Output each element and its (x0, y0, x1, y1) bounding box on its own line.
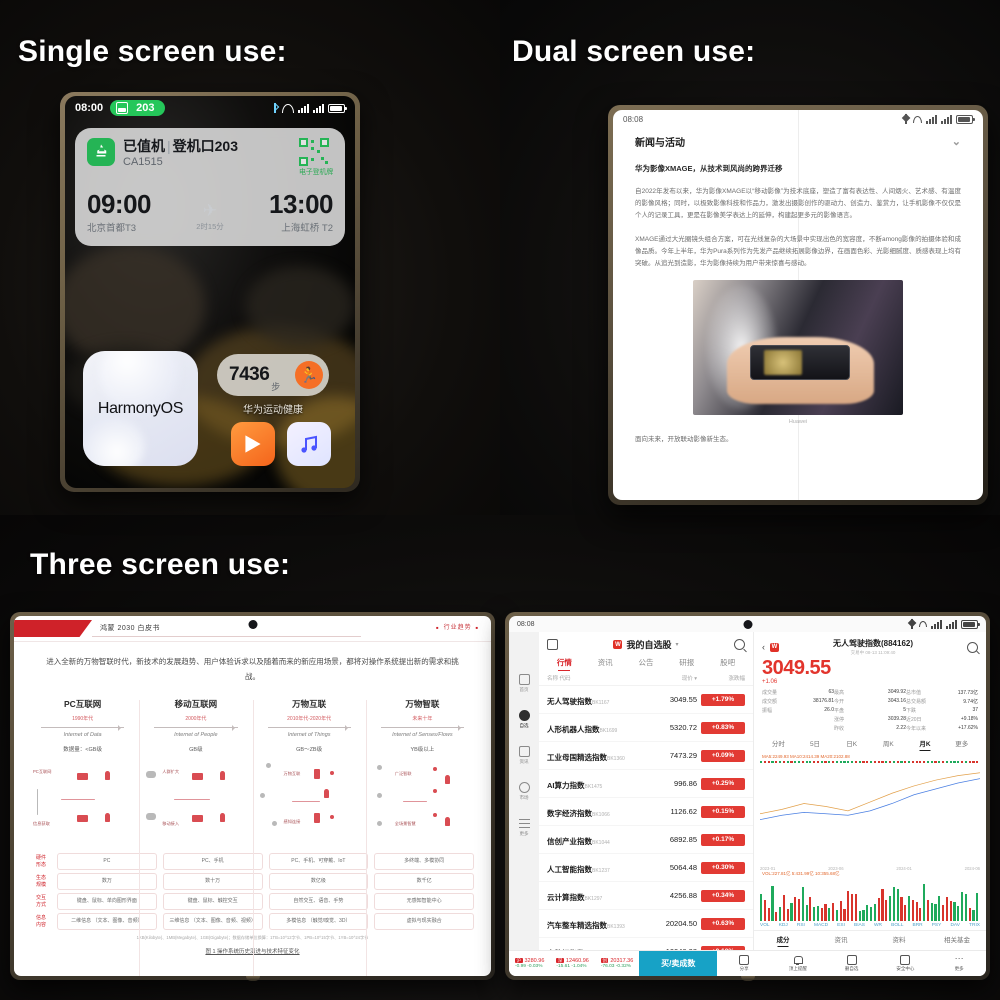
volume-bar (972, 910, 974, 921)
kline-tab[interactable]: 更多 (943, 738, 980, 751)
stock-name-cell: 信创产业指数BK1044 (547, 831, 645, 849)
indicator-tab[interactable]: PSY (932, 923, 942, 928)
watchlist-icon (519, 710, 530, 721)
dual-screen-heading: Dual screen use: (512, 35, 755, 69)
signal-icon (931, 620, 942, 629)
indicator-tab[interactable]: BOLL (891, 923, 903, 928)
volume-bar (828, 908, 830, 921)
boarding-pass-header: 已值机|登机口203 CA1515 电子登机牌 (87, 138, 333, 177)
era-period: 2000年代 (144, 715, 247, 722)
gate-capsule[interactable]: 203 (110, 100, 164, 116)
row-label: 硬件形态 (28, 853, 54, 870)
boarding-pass-icon (116, 102, 128, 114)
col-name: 名称 代码 (547, 674, 645, 682)
kline-tab[interactable]: 周K (870, 738, 907, 751)
table-row[interactable]: 大数据指数BK113110046.08+0.10% (539, 938, 753, 950)
stock-price: 20204.50 (645, 919, 697, 928)
stat-label: 今开 (834, 698, 844, 705)
phone-screen: 08:00 203 (65, 96, 355, 488)
table-cell: 多模信息 （触觉/嗅觉、3D） (269, 913, 369, 930)
kline-tab[interactable]: 5日 (797, 738, 834, 751)
action-remove[interactable]: 删自选 (825, 951, 879, 976)
stock-name-cell: 大数据指数BK1131 (547, 943, 645, 951)
action-share[interactable]: 分享 (717, 951, 771, 976)
arrival-block: 13:00 上海虹桥 T2 (269, 191, 333, 234)
table-cell: PC (57, 853, 157, 870)
stat-value: 137.73亿 (958, 689, 978, 696)
volume-bar (760, 894, 762, 921)
steps-count: 7436 (229, 364, 269, 386)
stock-change: +0.34% (701, 890, 745, 902)
row-label: 交互方式 (28, 893, 54, 910)
stock-name-cell: 无人驾驶指数BK1167 (547, 691, 645, 709)
table-cell: 二维信息 （文本、图像、音频） (57, 913, 157, 930)
era-arrow-icon (154, 724, 237, 731)
signal-icon (313, 104, 324, 113)
airplane-icon: ✈ (151, 202, 269, 219)
stock-code: BK1167 (592, 700, 609, 706)
front-camera-icon (743, 620, 752, 629)
era-diagram: 万物互联 感知连接 (258, 759, 361, 851)
volume-bar (859, 911, 861, 921)
volume-bar (938, 896, 940, 921)
volume-bar (806, 905, 808, 921)
edit-icon[interactable] (547, 639, 558, 650)
indicator-tab[interactable]: BIAS (854, 923, 865, 928)
table-row[interactable]: 无人驾驶指数BK11673049.55+1.79% (539, 686, 753, 714)
status-time: 08:08 (623, 115, 643, 124)
volume-bar (790, 903, 792, 921)
action-more[interactable]: ··· 更多 (932, 951, 986, 976)
qr-label: 电子登机牌 (299, 167, 333, 177)
volume-bar (900, 897, 902, 921)
detail-stats: 成交量63 成交额38176.81 振幅26.0 最高3049.92 今开304… (754, 685, 986, 733)
header-rule (92, 636, 361, 637)
era-volume: GB级 (144, 745, 247, 753)
volume-bar (934, 904, 936, 921)
volume-bar (768, 908, 770, 921)
detail-tab[interactable]: 资讯 (812, 934, 870, 947)
stock-name-cell: 人工智能指数BK1237 (547, 859, 645, 877)
steps-widget[interactable]: 7436 步 🏃 (217, 354, 329, 396)
table-row[interactable]: 数字经济指数BK10661126.62+0.15% (539, 798, 753, 826)
bottom-toolbar: 沪3280.96 -0.99 -0.03% 深12460.96 -15.61 -… (509, 950, 986, 976)
buy-sell-button[interactable]: 买/卖成数 (639, 951, 717, 976)
stock-change: +0.83% (701, 722, 745, 734)
volume-bar (764, 900, 766, 921)
departure-time: 09:00 (87, 191, 151, 217)
index-ticker[interactable]: 创20317.36 -76.03 -0.32% (595, 951, 639, 976)
single-screen-heading: Single screen use: (18, 35, 287, 69)
era-title: 万物互联 (258, 698, 361, 710)
volume-bar (961, 892, 963, 921)
era-english: Internet of People (144, 732, 247, 738)
stats-col-left: 成交量63 成交额38176.81 振幅26.0 (762, 688, 834, 733)
tab-news[interactable]: 资讯 (586, 657, 625, 671)
indicator-tab[interactable]: VOL (760, 923, 770, 928)
index-points: -15.61 (556, 964, 570, 969)
volume-bar (874, 904, 876, 921)
volume-bar (809, 897, 811, 921)
table-cell: 无感知智能中心 (374, 893, 474, 910)
tab-forum[interactable]: 股吧 (708, 657, 747, 671)
rail-label: 市场 (520, 795, 529, 801)
stat-label: 平盘 (834, 707, 844, 714)
stat-label: 成交额 (762, 698, 777, 705)
stock-change: +0.15% (701, 806, 745, 818)
stock-change: +0.30% (701, 862, 745, 874)
volume-bar (783, 895, 785, 921)
back-chevron-icon[interactable]: ‹ (762, 642, 765, 652)
stock-code: BK1393 (607, 924, 625, 930)
status-time: 08:08 (517, 621, 535, 628)
volume-bar (916, 902, 918, 921)
era-volume: 数据量：<GB级 (31, 745, 134, 753)
era-english: Internet of Things (258, 732, 361, 738)
stock-list: 无人驾驶指数BK11673049.55+1.79%人形机器人指数BK169953… (539, 686, 753, 950)
index-ticker[interactable]: 深12460.96 -15.61 -1.04% (550, 951, 594, 976)
app-badge-icon: W (770, 643, 779, 652)
action-label: 顶上提醒 (789, 966, 807, 972)
harmonyos-widget[interactable]: HarmonyOS (83, 351, 198, 466)
stock-name-cell: 工业母国精选指数BK1360 (547, 747, 645, 765)
status-icons (903, 114, 973, 124)
volume-bar (912, 900, 914, 921)
status-time: 08:00 (75, 102, 103, 114)
battery-icon (961, 620, 978, 629)
era-column: PC互联网 1990年代 Internet of Data 数据量：<GB级 P… (26, 698, 139, 851)
detail-bottom-tabs: 成分资讯资料相关基金 (754, 930, 986, 950)
boarding-pass-times: 09:00 北京首都T3 ✈ 2时15分 13:00 上海虹桥 T2 (87, 191, 333, 234)
era-title: PC互联网 (31, 698, 134, 710)
stat-value: +9.18% (961, 716, 978, 723)
action-alert[interactable]: 顶上提醒 (771, 951, 825, 976)
stock-code: BK1044 (592, 840, 610, 846)
side-rail: 首页 自选 资讯 市场 (509, 632, 539, 950)
stock-price: 6892.85 (645, 835, 697, 844)
sidebar-item-home[interactable]: 首页 (519, 674, 530, 693)
watchlist-header: W 我的自选股 ▾ (539, 632, 753, 653)
volume-bar (843, 909, 845, 921)
stock-name-cell: 数字经济指数BK1066 (547, 803, 645, 821)
volume-bar (904, 905, 906, 921)
ma-legend: MA5:2249.93 MA10:2414.39 MA20:2102.88 (754, 754, 986, 759)
chevron-down-icon: ▾ (676, 641, 679, 648)
photo-phone-screen (764, 350, 802, 374)
checkin-status: 已值机 (123, 138, 165, 154)
stock-name: AI算力指数 (547, 781, 585, 790)
table-row[interactable]: 信创产业指数BK10446892.85+0.17% (539, 826, 753, 854)
indicator-tab[interactable]: MACD (814, 923, 828, 928)
indicator-tab[interactable]: KDJ (779, 923, 788, 928)
stock-change: +0.63% (701, 918, 745, 930)
watchlist-title: 我的自选股 (626, 638, 671, 651)
kline-tabs: 分时5日日K周K月K更多 (754, 733, 986, 754)
volume-bar (965, 894, 967, 921)
stat-label: 近20日 (906, 716, 922, 723)
brand-tab (14, 620, 92, 637)
table-cell: 数亿级 (269, 873, 369, 890)
indicator-tab[interactable]: ESI (837, 923, 845, 928)
departure-airport: 北京首都T3 (87, 220, 151, 234)
table-cell: 键盘、鼠标、触控交互 (163, 893, 263, 910)
volume-bar (953, 902, 955, 921)
era-title: 万物智联 (371, 698, 474, 710)
detail-price-block: 3049.55 +1.06 (754, 656, 986, 685)
indicator-tab[interactable]: DAV (950, 923, 960, 928)
action-label: 更多 (955, 966, 964, 972)
column-headers: 名称 代码 现价 ▾ 涨跌幅 (539, 671, 753, 686)
volume-bar (794, 897, 796, 921)
stock-price: 996.86 (645, 779, 697, 788)
volume-bar (798, 899, 800, 921)
sidebar-item-news[interactable]: 资讯 (519, 746, 530, 765)
stock-name: 信创产业指数 (547, 837, 592, 846)
era-english: Internet of Data (31, 732, 134, 738)
table-cell: 键盘、鼠标、单向图形界面 (57, 893, 157, 910)
detail-tab[interactable]: 相关基金 (928, 934, 986, 947)
volume-bar (787, 909, 789, 921)
status-icons (272, 103, 345, 113)
stock-code: BK1237 (592, 868, 610, 874)
battery-icon (956, 115, 973, 124)
table-cell: PC、手机、可穿戴、IoT (269, 853, 369, 870)
signal-icon (941, 115, 952, 124)
table-row[interactable]: 汽车整车精选指数BK139320204.50+0.63% (539, 910, 753, 938)
table-cell: PC、手机 (163, 853, 263, 870)
volume-bar (889, 896, 891, 921)
index-percent: -0.32% (616, 964, 631, 969)
signal-icon (926, 115, 937, 124)
whitepaper-document: 鸿蒙 2030 白皮书 行业趋势 进入全新的万物智联时代，新技术的发展趋势、用户… (14, 616, 491, 976)
table-cell: 数千亿 (374, 873, 474, 890)
era-column: 移动互联网 2000年代 Internet of People GB级 人群扩大 (139, 698, 252, 851)
stat-label: 下跌 (906, 707, 916, 714)
indicator-tab[interactable]: WR (874, 923, 882, 928)
detail-price: 3049.55 (762, 658, 978, 678)
stock-name: 汽车整车精选指数 (547, 921, 607, 930)
era-column: 万物智联 未来十年 Internet of Senses/Flows YB级以上… (366, 698, 479, 851)
stat-label: 成交量 (762, 689, 777, 696)
table-cell: 数十万 (163, 873, 263, 890)
volume-bar (813, 907, 815, 922)
volume-bar (897, 889, 899, 921)
era-volume: GB～ZB级 (258, 745, 361, 753)
col-price[interactable]: 现价 ▾ (645, 674, 697, 682)
stock-app-body: 首页 自选 资讯 市场 (509, 632, 986, 950)
volume-bar (885, 900, 887, 921)
whitepaper-lead: 进入全新的万物智联时代，新技术的发展趋势、用户体验诉求以及随着而来的新应用场景，… (40, 654, 465, 684)
sidebar-item-watchlist[interactable]: 自选 (519, 710, 530, 729)
volume-bar (976, 893, 978, 921)
stats-col-right: 总市值137.73亿 总交易额9.74亿 下跌37 近20日+9.18% 今年以… (906, 688, 978, 733)
news-icon (519, 746, 530, 757)
era-period: 未来十年 (371, 715, 474, 722)
app-badge-icon: W (613, 640, 622, 649)
search-icon[interactable] (734, 639, 745, 650)
music-app-icon[interactable] (287, 422, 331, 466)
table-row[interactable]: 人形机器人指数BK16995320.72+0.83% (539, 714, 753, 742)
stock-name: 人形机器人指数 (547, 725, 600, 734)
stock-price: 1126.62 (645, 807, 697, 816)
stats-col-mid: 最高3049.92 今开3043.16 平盘5 涨停3039.28 昨收2.22 (834, 688, 906, 733)
volume-legend: VOL:227.81亿 5:431.99亿 10:355.68亿 (754, 871, 986, 877)
volume-bar (931, 903, 933, 921)
volume-bar (821, 908, 823, 921)
arrival-time: 13:00 (269, 191, 333, 217)
volume-chart (760, 879, 980, 921)
boarding-pass-card[interactable]: 已值机|登机口203 CA1515 电子登机牌 (75, 128, 345, 246)
volume-bar (878, 898, 880, 921)
stock-price: 4256.88 (645, 891, 697, 900)
stock-code: BK1699 (600, 728, 618, 734)
share-icon (739, 955, 749, 965)
tab-research[interactable]: 研报 (667, 657, 706, 671)
stock-change: +0.17% (701, 834, 745, 846)
more-dots-icon: ··· (954, 955, 964, 965)
status-icons (909, 619, 978, 629)
stat-value: 38176.81 (813, 698, 834, 705)
front-camera-icon (248, 620, 257, 629)
search-icon[interactable] (967, 642, 978, 653)
stock-name: 云计算指数 (547, 893, 585, 902)
stat-label: 最高 (834, 689, 844, 696)
action-label: 分享 (740, 966, 749, 972)
tab-quotes[interactable]: 行情 (545, 657, 584, 671)
table-row[interactable]: 云计算指数BK12974256.88+0.34% (539, 882, 753, 910)
indicator-tab[interactable]: RSI (797, 923, 805, 928)
index-percent: -1.04% (571, 964, 586, 969)
volume-bar (847, 891, 849, 921)
era-english: Internet of Senses/Flows (371, 732, 474, 738)
menu-icon (519, 818, 530, 829)
dual-screen-display: 08:08 新闻与活动 ⌄ 华为影像XMAGE，从技术到风尚的跨界迁移 自202… (613, 110, 983, 500)
index-points: -0.99 (515, 964, 526, 969)
era-diagram: PC互联网 信息获取 (31, 759, 134, 851)
bell-icon (793, 955, 803, 965)
detail-header: ‹ W 无人驾驶指数(884162) 交易中 08-13 11:09:40 (754, 632, 986, 656)
detail-tab[interactable]: 成分 (754, 934, 812, 947)
table-row[interactable]: 人工智能指数BK12375064.48+0.30% (539, 854, 753, 882)
flight-duration: 2时15分 (151, 221, 269, 232)
qr-code-icon (299, 138, 329, 166)
globe-icon (519, 782, 530, 793)
index-points: -76.03 (601, 964, 615, 969)
detail-tab[interactable]: 资料 (870, 934, 928, 947)
volume-bar (866, 905, 868, 921)
table-row[interactable]: AI算力指数BK1475996.86+0.25% (539, 770, 753, 798)
stat-value: 3043.16 (888, 698, 906, 705)
three-screen-right-device: 08:08 首页 自选 (505, 612, 990, 980)
era-period: 2010年代-2020年代 (258, 715, 361, 722)
article-section-title: 新闻与活动 (635, 134, 685, 149)
table-row[interactable]: 工业母国精选指数BK13607473.29+0.09% (539, 742, 753, 770)
stock-price: 3049.55 (645, 695, 697, 704)
stock-code: BK1066 (592, 812, 610, 818)
volume-bar (923, 884, 925, 921)
stat-value: 3039.28 (888, 716, 906, 723)
volume-bar (870, 907, 872, 921)
row-label: 生态规模 (28, 873, 54, 890)
table-cell: 多终端、多模协同 (374, 853, 474, 870)
watchlist-title-group[interactable]: W 我的自选股 ▾ (558, 638, 734, 651)
era-arrow-icon (41, 724, 124, 731)
volume-bar (957, 906, 959, 921)
tab-announcements[interactable]: 公告 (627, 657, 666, 671)
bluetooth-icon (903, 114, 909, 124)
era-columns: PC互联网 1990年代 Internet of Data 数据量：<GB级 P… (26, 698, 479, 851)
volume-bar (908, 896, 910, 921)
kline-tab[interactable]: 月K (907, 738, 944, 751)
departure-block: 09:00 北京首都T3 (87, 191, 151, 234)
bluetooth-icon (909, 619, 915, 629)
stat-value: +17.62% (958, 725, 978, 732)
volume-bar (855, 894, 857, 921)
flight-duration-block: ✈ 2时15分 (151, 202, 269, 234)
sidebar-item-more[interactable]: 更多 (519, 818, 530, 837)
kline-tab[interactable]: 日K (833, 738, 870, 751)
stock-name-cell: AI算力指数BK1475 (547, 775, 645, 793)
stock-name: 数字经济指数 (547, 809, 592, 818)
wifi-icon (919, 621, 927, 627)
stat-value: 9.74亿 (963, 698, 978, 705)
separator: | (167, 138, 171, 154)
dual-screen-device: 08:08 新闻与活动 ⌄ 华为影像XMAGE，从技术到风尚的跨界迁移 自202… (608, 105, 988, 505)
rail-label: 首页 (520, 687, 529, 693)
wifi-icon (282, 104, 294, 113)
stat-label: 总市值 (906, 689, 921, 696)
era-volume: YB级以上 (371, 745, 474, 753)
single-screen-device: 08:00 203 (60, 92, 360, 492)
table-cell: 虚拟与现实融合 (374, 913, 474, 930)
moving-average-lines (760, 761, 980, 834)
qr-code-block[interactable]: 电子登机牌 (299, 138, 333, 177)
action-secure[interactable]: 安全中心 (879, 951, 933, 976)
video-app-icon[interactable] (231, 422, 275, 466)
stat-label: 涨停 (834, 716, 844, 723)
index-name: 沪 (515, 958, 523, 963)
stock-code: BK1360 (607, 756, 625, 762)
arrival-airport: 上海虹桥 T2 (269, 220, 333, 234)
era-arrow-icon (268, 724, 351, 731)
col-change[interactable]: 涨跌幅 (697, 674, 745, 682)
candlestick-chart[interactable] (760, 761, 980, 866)
table-cell: 三维信息 （文本、图像、音频、视频） (163, 913, 263, 930)
status-bar: 08:00 203 (65, 96, 355, 120)
stock-name-cell: 人形机器人指数BK1699 (547, 719, 645, 737)
gate-label: 登机口203 (173, 138, 238, 154)
index-ticker[interactable]: 沪3280.96 -0.99 -0.03% (509, 951, 550, 976)
indicator-tab[interactable]: TRIX (969, 923, 980, 928)
stock-detail-pane: ‹ W 无人驾驶指数(884162) 交易中 08-13 11:09:40 30… (754, 632, 986, 950)
chevron-down-icon[interactable]: ⌄ (952, 135, 961, 148)
row-label: 信息内容 (28, 913, 54, 930)
era-column: 万物互联 2010年代-2020年代 Internet of Things GB… (253, 698, 366, 851)
rail-label: 自选 (520, 723, 529, 729)
action-label: 删自选 (845, 966, 859, 972)
stock-name-cell: 汽车整车精选指数BK1393 (547, 915, 645, 933)
sidebar-item-market[interactable]: 市场 (519, 782, 530, 801)
indicator-tab[interactable]: BRR (913, 923, 923, 928)
article-photo (693, 280, 903, 415)
detail-title: 无人驾驶指数(884162) (784, 638, 962, 649)
detail-title-group: 无人驾驶指数(884162) 交易中 08-13 11:09:40 (784, 638, 962, 656)
home-icon (519, 674, 530, 685)
whitepaper-tag: 行业趋势 (432, 622, 483, 631)
action-label: 安全中心 (896, 966, 914, 972)
three-screen-left-device: 鸿蒙 2030 白皮书 行业趋势 进入全新的万物智联时代，新技术的发展趋势、用户… (10, 612, 495, 980)
kline-tab[interactable]: 分时 (760, 738, 797, 751)
